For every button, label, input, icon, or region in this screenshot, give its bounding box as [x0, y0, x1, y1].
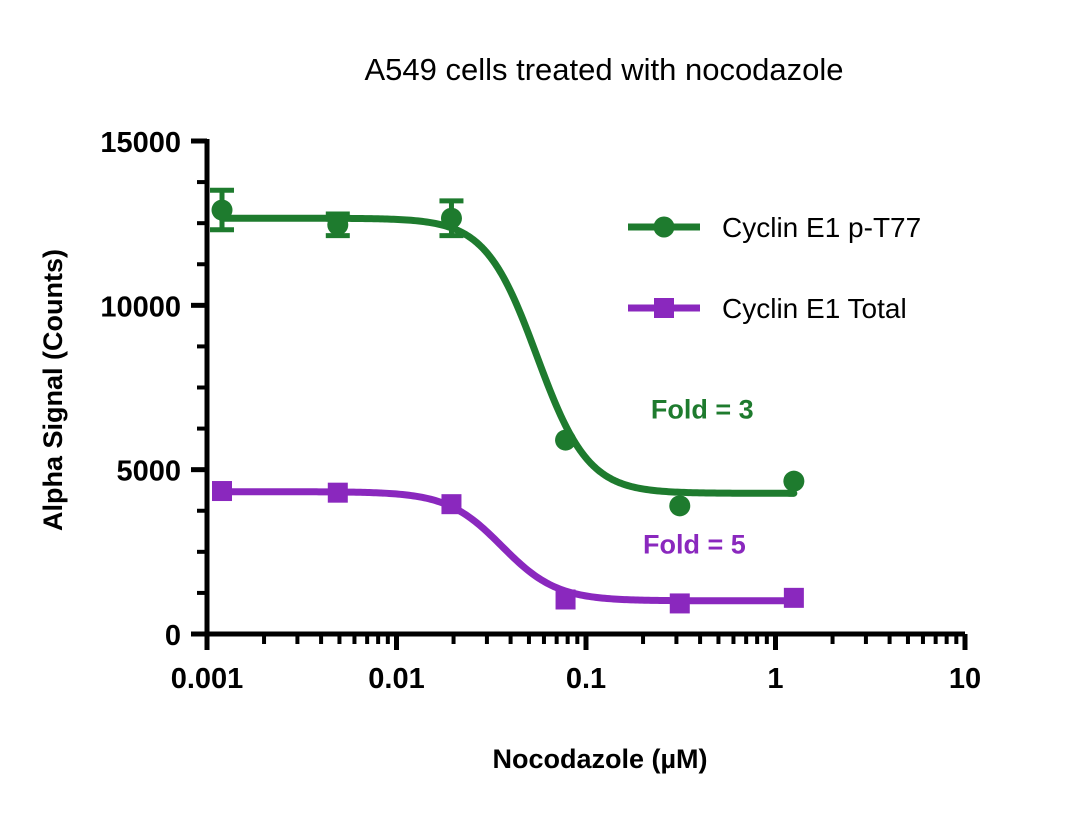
series-curve: [222, 218, 794, 493]
x-axis-label: Nocodazole (µM): [492, 744, 707, 774]
chart-legend: Cyclin E1 p-T77Cyclin E1 Total: [628, 212, 921, 324]
x-tick-label: 0.001: [171, 663, 244, 695]
data-point-marker: [783, 471, 804, 492]
chart-canvas: A549 cells treated with nocodazole 05000…: [0, 0, 1080, 821]
data-point-marker: [670, 593, 690, 613]
data-point-marker: [556, 589, 576, 609]
chart-annotation: Fold = 5: [643, 529, 746, 559]
data-point-marker: [441, 208, 462, 229]
x-tick-label: 10: [949, 663, 981, 695]
legend-label: Cyclin E1 Total: [722, 293, 907, 324]
y-axis-tick-labels: 050001000015000: [100, 127, 181, 652]
data-point-marker: [212, 481, 232, 501]
y-tick-label: 0: [165, 620, 181, 652]
legend-entry-1[interactable]: Cyclin E1 p-T77: [628, 212, 921, 243]
x-tick-label: 0.01: [368, 663, 424, 695]
chart-title: A549 cells treated with nocodazole: [364, 52, 843, 87]
legend-marker-circle-icon: [654, 217, 675, 238]
data-point-marker: [212, 200, 233, 221]
data-point-marker: [328, 483, 348, 503]
data-point-marker: [441, 494, 461, 514]
annotation-layer: Fold = 3Fold = 5: [643, 395, 754, 560]
y-tick-label: 10000: [100, 291, 181, 323]
data-point-marker: [327, 214, 348, 235]
data-point-marker: [784, 588, 804, 608]
chart-figure: A549 cells treated with nocodazole 05000…: [0, 0, 1080, 821]
y-axis-label: Alpha Signal (Counts): [38, 249, 68, 531]
legend-entry-2[interactable]: Cyclin E1 Total: [628, 293, 907, 324]
chart-annotation: Fold = 3: [651, 395, 754, 425]
series-1: [210, 190, 804, 516]
data-point-marker: [555, 430, 576, 451]
x-tick-label: 0.1: [566, 663, 606, 695]
legend-marker-square-icon: [654, 298, 674, 318]
y-tick-label: 5000: [116, 456, 181, 488]
data-point-marker: [669, 495, 690, 516]
y-tick-label: 15000: [100, 127, 181, 159]
x-tick-label: 1: [767, 663, 783, 695]
legend-label: Cyclin E1 p-T77: [722, 212, 921, 243]
x-axis-tick-labels: 0.0010.010.1110: [171, 663, 981, 695]
